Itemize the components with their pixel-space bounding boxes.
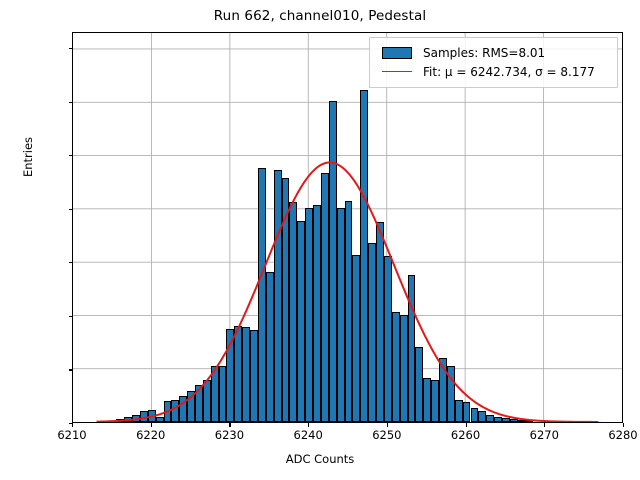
x-tick-label: 6270 xyxy=(504,428,584,442)
legend-label-fit: Fit: μ = 6242.734, σ = 8.177 xyxy=(416,65,595,79)
x-axis-label: ADC Counts xyxy=(0,452,640,466)
x-tick-label: 6210 xyxy=(32,428,112,442)
x-tick-label: 6230 xyxy=(189,428,269,442)
chart-legend: Samples: RMS=8.01 Fit: μ = 6242.734, σ =… xyxy=(369,37,618,88)
x-tick-label: 6280 xyxy=(583,428,640,442)
legend-item-fit: Fit: μ = 6242.734, σ = 8.177 xyxy=(377,62,610,81)
x-tick-mark xyxy=(466,423,467,427)
plot-area xyxy=(72,32,623,423)
legend-patch-icon xyxy=(377,47,416,59)
x-tick-label: 6220 xyxy=(111,428,191,442)
x-tick-mark xyxy=(72,423,73,427)
x-tick-label: 6250 xyxy=(347,428,427,442)
x-tick-mark xyxy=(387,423,388,427)
x-tick-mark xyxy=(151,423,152,427)
x-tick-mark xyxy=(229,423,230,427)
legend-line-icon xyxy=(377,71,416,72)
x-tick-label: 6240 xyxy=(268,428,348,442)
chart-title: Run 662, channel010, Pedestal xyxy=(0,8,640,24)
x-tick-mark xyxy=(623,423,624,427)
x-tick-label: 6260 xyxy=(426,428,506,442)
y-axis-label: Entries xyxy=(21,77,35,237)
x-tick-mark xyxy=(308,423,309,427)
legend-label-samples: Samples: RMS=8.01 xyxy=(416,46,545,60)
legend-item-samples: Samples: RMS=8.01 xyxy=(377,43,610,62)
gaussian-fit-curve xyxy=(73,33,622,422)
chart-figure: Run 662, channel010, Pedestal Entries AD… xyxy=(0,0,640,480)
x-tick-mark xyxy=(544,423,545,427)
